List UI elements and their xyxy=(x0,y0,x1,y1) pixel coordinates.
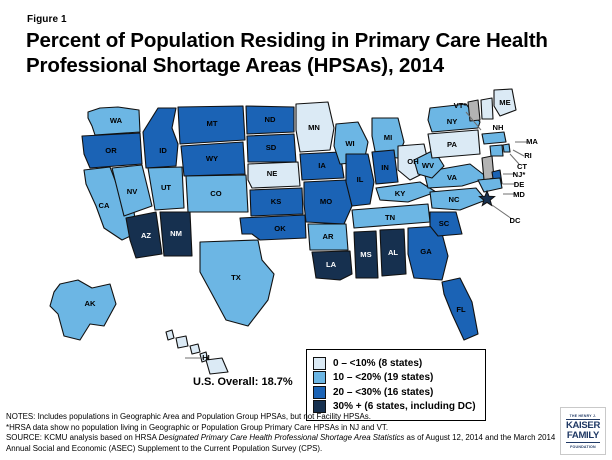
state-id[interactable] xyxy=(143,108,178,168)
state-ma[interactable] xyxy=(482,132,506,144)
callout-label-ri: RI xyxy=(524,151,532,160)
state-mo[interactable] xyxy=(304,180,352,224)
state-nh[interactable] xyxy=(481,98,493,119)
legend-label-1: 10 – <20% (19 states) xyxy=(333,372,433,383)
map-legend: 0 – <10% (8 states) 10 – <20% (19 states… xyxy=(306,349,486,421)
state-wa[interactable] xyxy=(88,107,140,135)
state-ak[interactable] xyxy=(50,280,116,340)
legend-label-0: 0 – <10% (8 states) xyxy=(333,358,422,369)
leader-ct xyxy=(510,154,519,164)
state-ri[interactable] xyxy=(503,144,510,152)
us-overall-label: U.S. Overall: 18.7% xyxy=(193,376,293,388)
state-nd[interactable] xyxy=(246,106,294,134)
state-wy[interactable] xyxy=(181,142,245,176)
state-ne[interactable] xyxy=(248,162,300,188)
logo-line-3: FAMILY xyxy=(567,431,599,441)
legend-item: 20 – <30% (16 states) xyxy=(313,386,476,399)
state-az[interactable] xyxy=(126,212,162,258)
state-tx[interactable] xyxy=(200,240,274,326)
state-hi[interactable] xyxy=(166,330,174,340)
state-nc[interactable] xyxy=(430,188,486,210)
kff-logo: THE HENRY J. KAISER FAMILY FOUNDATION xyxy=(560,407,606,455)
legend-swatch-0 xyxy=(313,357,326,370)
state-vt[interactable] xyxy=(468,100,480,121)
state-il[interactable] xyxy=(346,154,374,206)
callout-label-dc: DC xyxy=(510,216,521,225)
logo-line-1: THE HENRY J. xyxy=(570,414,597,418)
source-title: Designated Primary Care Health Professio… xyxy=(159,433,405,442)
legend-item: 0 – <10% (8 states) xyxy=(313,357,476,370)
state-hi[interactable] xyxy=(206,358,228,374)
legend-swatch-1 xyxy=(313,371,326,384)
logo-line-4: FOUNDATION xyxy=(570,445,596,449)
state-sd[interactable] xyxy=(247,134,296,162)
note-line-2: *HRSA data show no population living in … xyxy=(6,423,558,434)
state-la[interactable] xyxy=(312,251,352,280)
note-line-3: SOURCE: KCMU analysis based on HRSA Desi… xyxy=(6,433,558,454)
state-hi[interactable] xyxy=(190,344,200,354)
state-dc-marker[interactable] xyxy=(479,191,494,206)
state-hi[interactable] xyxy=(176,336,188,348)
callout-label-nh: NH xyxy=(493,123,504,132)
state-ct[interactable] xyxy=(490,145,503,156)
legend-item: 10 – <20% (19 states) xyxy=(313,371,476,384)
state-fl[interactable] xyxy=(442,278,478,340)
source-prefix: SOURCE: KCMU analysis based on HRSA xyxy=(6,433,159,442)
state-ut[interactable] xyxy=(148,167,184,210)
note-line-1: NOTES: Includes populations in Geographi… xyxy=(6,412,558,423)
state-nm[interactable] xyxy=(160,212,192,256)
state-ok[interactable] xyxy=(240,215,306,240)
state-ks[interactable] xyxy=(250,188,303,216)
page-title: Percent of Population Residing in Primar… xyxy=(26,28,586,78)
figure-label: Figure 1 xyxy=(27,14,67,25)
legend-label-3: 30% + (6 states, including DC) xyxy=(333,401,476,412)
state-in[interactable] xyxy=(372,150,398,184)
state-sc[interactable] xyxy=(430,212,462,236)
legend-swatch-2 xyxy=(313,386,326,399)
state-mt[interactable] xyxy=(178,106,245,144)
logo-line-2: KAISER xyxy=(566,421,600,431)
legend-label-2: 20 – <30% (16 states) xyxy=(333,387,433,398)
footnotes: NOTES: Includes populations in Geographi… xyxy=(6,412,558,454)
state-al[interactable] xyxy=(380,229,406,276)
leader-dc xyxy=(492,205,512,219)
state-or[interactable] xyxy=(82,133,142,168)
state-pa[interactable] xyxy=(428,130,480,158)
state-tn[interactable] xyxy=(352,204,430,228)
state-md[interactable] xyxy=(478,178,502,192)
state-me[interactable] xyxy=(494,89,516,116)
state-mn[interactable] xyxy=(296,102,334,152)
logo-divider-bottom xyxy=(566,442,600,443)
leader-ri xyxy=(513,150,524,156)
state-ar[interactable] xyxy=(308,224,348,250)
state-ms[interactable] xyxy=(354,231,378,278)
choropleth-map: WAORCANVIDMTWYUTAZCONMNDSDNEKSOKTXMNIAMO… xyxy=(0,88,612,378)
state-co[interactable] xyxy=(186,175,248,212)
